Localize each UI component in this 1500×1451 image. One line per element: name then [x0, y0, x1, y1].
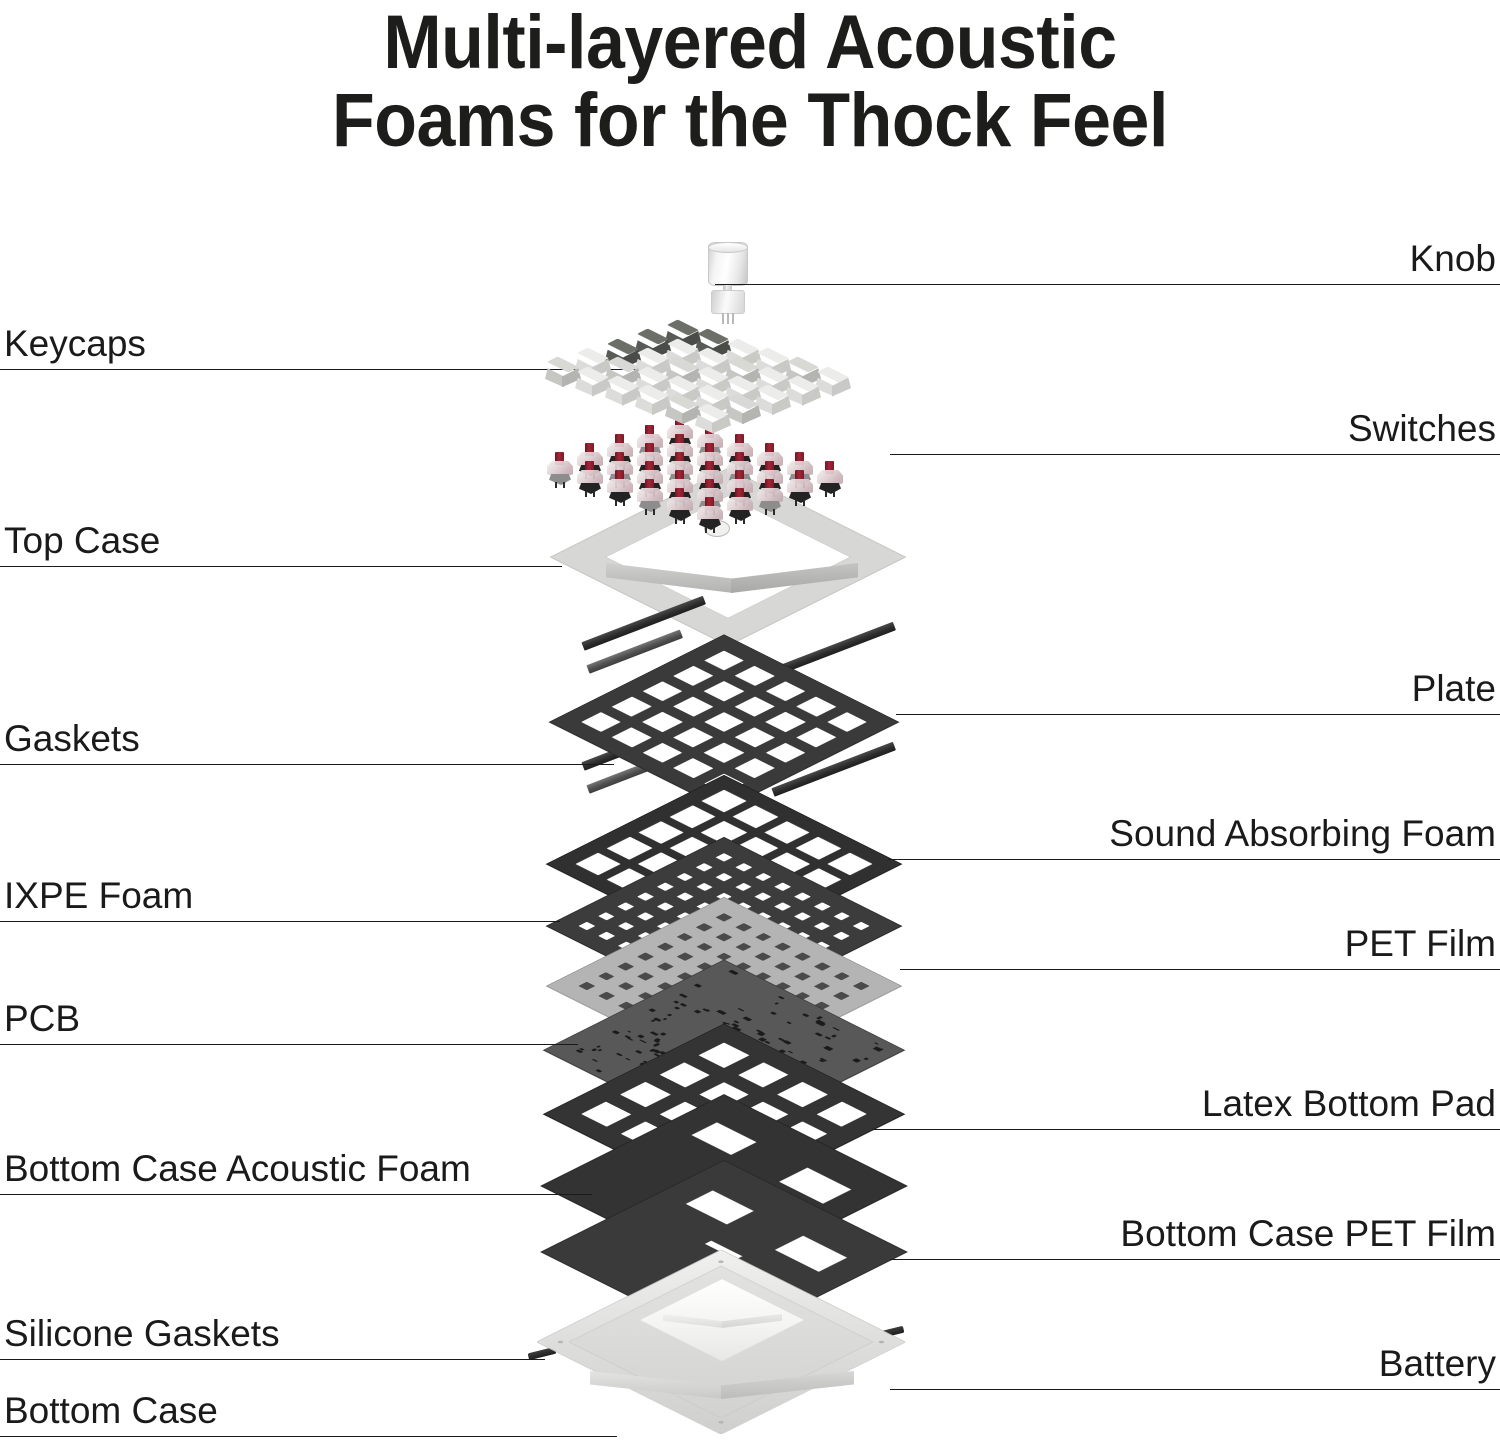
switch-pin-icon	[773, 509, 775, 515]
keycap-front-face	[545, 368, 564, 387]
switch-pin-icon	[585, 491, 587, 497]
pcb-component	[674, 1007, 680, 1010]
switch-pin-icon	[593, 491, 595, 497]
callout-label-knob: Knob	[1410, 240, 1496, 279]
leader-line-silicone-gaskets	[0, 1359, 545, 1360]
keycap-front-face	[635, 396, 654, 415]
keycap-top-face	[697, 403, 729, 419]
switch-pin-icon	[653, 509, 655, 515]
key-switch	[757, 479, 783, 513]
leader-line-battery	[890, 1389, 1500, 1390]
switch-base-icon	[699, 519, 721, 530]
callout-pet-film: PET Film	[900, 900, 1500, 970]
switch-base-icon	[819, 483, 841, 494]
callout-label-bottom-case-pet-film: Bottom Case PET Film	[1120, 1215, 1496, 1254]
callout-label-ixpe-foam: IXPE Foam	[4, 877, 193, 916]
switch-pin-icon	[563, 482, 565, 488]
knob-base-icon	[711, 290, 745, 314]
callout-ixpe-foam: IXPE Foam	[0, 852, 560, 922]
callout-bottom-case-pet-film: Bottom Case PET Film	[890, 1190, 1500, 1260]
switch-pin-icon	[795, 500, 797, 506]
switch-pin-icon	[623, 500, 625, 506]
pcb-component	[778, 996, 785, 999]
callout-silicone-gaskets: Silicone Gaskets	[0, 1290, 545, 1360]
pcb-component	[774, 1002, 779, 1005]
key-switch	[637, 479, 663, 513]
switch-pin-icon	[743, 518, 745, 524]
leader-line-bottom-case-pet-film	[890, 1259, 1500, 1260]
pcb-component	[637, 1034, 645, 1038]
pcb-component	[635, 1050, 642, 1054]
pcb-component	[728, 970, 738, 975]
key-switch	[547, 452, 573, 486]
pcb-component	[639, 1039, 647, 1043]
leader-line-switches	[890, 454, 1500, 455]
pcb-component	[742, 1016, 752, 1021]
switch-pin-icon	[615, 500, 617, 506]
pcb-component	[627, 1031, 631, 1033]
pcb-component	[817, 1016, 823, 1019]
switch-pin-icon	[705, 527, 707, 533]
callout-knob: Knob	[715, 215, 1500, 285]
keycap	[693, 404, 733, 434]
pcb-component	[659, 1032, 666, 1036]
pcb-component	[595, 1069, 602, 1073]
pcb-component	[596, 1045, 602, 1048]
leader-line-plate	[896, 714, 1500, 715]
switch-base-icon	[759, 501, 781, 512]
pcb-component	[786, 1021, 791, 1024]
pcb-component	[788, 1051, 794, 1054]
switch-pin-icon	[683, 518, 685, 524]
keycap-front-face	[605, 387, 624, 406]
key-switch	[697, 497, 723, 531]
leader-line-knob	[715, 284, 1500, 285]
key-switch	[817, 461, 843, 495]
callout-top-case: Top Case	[0, 497, 562, 567]
leader-line-pet-film	[900, 969, 1500, 970]
switch-base-icon	[639, 501, 661, 512]
callout-bottom-case-acoustic-foam: Bottom Case Acoustic Foam	[0, 1125, 592, 1195]
key-switch	[577, 461, 603, 495]
pcb-component	[667, 1014, 673, 1017]
switch-base-icon	[669, 510, 691, 521]
callout-switches: Switches	[890, 385, 1500, 455]
switch-pin-icon	[833, 491, 835, 497]
leader-line-bottom-case	[0, 1436, 617, 1437]
pcb-component	[648, 1008, 656, 1012]
bottom-case-screw	[717, 1260, 724, 1264]
pcb-component	[625, 1058, 631, 1061]
key-switch	[607, 470, 633, 504]
leader-line-gaskets	[0, 764, 614, 765]
callout-label-silicone-gaskets: Silicone Gaskets	[4, 1315, 280, 1354]
switch-pin-icon	[825, 491, 827, 497]
callout-label-sound-absorbing-foam: Sound Absorbing Foam	[1109, 815, 1496, 854]
bottom-case-screw	[878, 1340, 885, 1344]
key-switch	[727, 488, 753, 522]
callout-label-keycaps: Keycaps	[4, 325, 146, 364]
bottom-case-screw	[557, 1340, 564, 1344]
leader-line-latex-bottom-pad	[872, 1129, 1500, 1130]
switch-base-icon	[609, 492, 631, 503]
callout-pcb: PCB	[0, 975, 578, 1045]
callout-sound-absorbing-foam: Sound Absorbing Foam	[888, 790, 1500, 860]
pcb-component	[673, 1000, 679, 1003]
keycap-right-face	[742, 405, 761, 424]
callout-battery: Battery	[890, 1320, 1500, 1390]
leader-line-sound-absorbing-foam	[888, 859, 1500, 860]
callout-label-gaskets: Gaskets	[4, 720, 140, 759]
callout-gaskets: Gaskets	[0, 695, 614, 765]
title-line-1: Multi-layered Acoustic	[60, 4, 1440, 82]
switch-pin-icon	[675, 518, 677, 524]
callout-label-pet-film: PET Film	[1345, 925, 1496, 964]
pcb-component	[612, 1030, 621, 1034]
callout-label-top-case: Top Case	[4, 522, 160, 561]
exploded-view-diagram: Multi-layered Acoustic Foams for the Tho…	[0, 0, 1500, 1451]
keycap-front-face	[695, 415, 714, 434]
leader-line-pcb	[0, 1044, 578, 1045]
pcb-component	[832, 1027, 840, 1031]
pcb-component	[597, 1049, 602, 1052]
callout-label-switches: Switches	[1348, 410, 1496, 449]
callout-bottom-case: Bottom Case	[0, 1367, 617, 1437]
switch-pin-icon	[555, 482, 557, 488]
switch-pin-icon	[645, 509, 647, 515]
pcb-component	[694, 1010, 702, 1014]
switch-pin-icon	[765, 509, 767, 515]
pcb-component	[874, 1042, 879, 1044]
key-switch	[667, 488, 693, 522]
pcb-component	[650, 1031, 659, 1035]
callout-plate: Plate	[896, 645, 1500, 715]
pcb-component	[650, 1019, 656, 1022]
pcb-component	[770, 1011, 777, 1014]
pcb-component	[678, 993, 687, 998]
leader-line-top-case	[0, 566, 562, 567]
switch-pin-icon	[735, 518, 737, 524]
callout-label-latex-bottom-pad: Latex Bottom Pad	[1202, 1085, 1496, 1124]
switch-base-icon	[789, 492, 811, 503]
callout-label-battery: Battery	[1379, 1345, 1496, 1384]
pcb-component	[592, 1059, 598, 1062]
pcb-component	[654, 1043, 660, 1046]
callout-label-pcb: PCB	[4, 1000, 80, 1039]
pcb-component	[663, 1018, 668, 1020]
pcb-component	[694, 984, 702, 988]
keycap-front-face	[665, 405, 684, 424]
switch-pin-icon	[803, 500, 805, 506]
pcb-component	[616, 1053, 623, 1057]
pcb-component	[679, 1003, 687, 1007]
callout-latex-bottom-pad: Latex Bottom Pad	[872, 1060, 1500, 1130]
pcb-component	[823, 1046, 834, 1051]
leader-line-bottom-case-acoustic-foam	[0, 1194, 592, 1195]
switch-pin-icon	[713, 527, 715, 533]
callout-label-plate: Plate	[1412, 670, 1496, 709]
page-title: Multi-layered Acoustic Foams for the Tho…	[60, 4, 1440, 159]
callout-label-bottom-case-acoustic-foam: Bottom Case Acoustic Foam	[4, 1150, 471, 1189]
pcb-component	[626, 1037, 633, 1041]
bottom-case-screw	[717, 1420, 724, 1424]
callout-label-bottom-case: Bottom Case	[4, 1392, 218, 1431]
pcb-component	[737, 1008, 744, 1011]
title-line-2: Foams for the Thock Feel	[60, 82, 1440, 160]
switch-base-icon	[579, 483, 601, 494]
keycap-front-face	[575, 378, 594, 397]
key-switch	[787, 470, 813, 504]
pcb-component	[863, 1057, 868, 1060]
pcb-component	[815, 1032, 823, 1036]
leader-line-ixpe-foam	[0, 921, 560, 922]
pcb-component	[831, 1034, 837, 1037]
pcb-component	[852, 1058, 861, 1063]
switch-base-icon	[729, 510, 751, 521]
pcb-component	[802, 1013, 809, 1017]
switch-base-icon	[549, 474, 571, 485]
